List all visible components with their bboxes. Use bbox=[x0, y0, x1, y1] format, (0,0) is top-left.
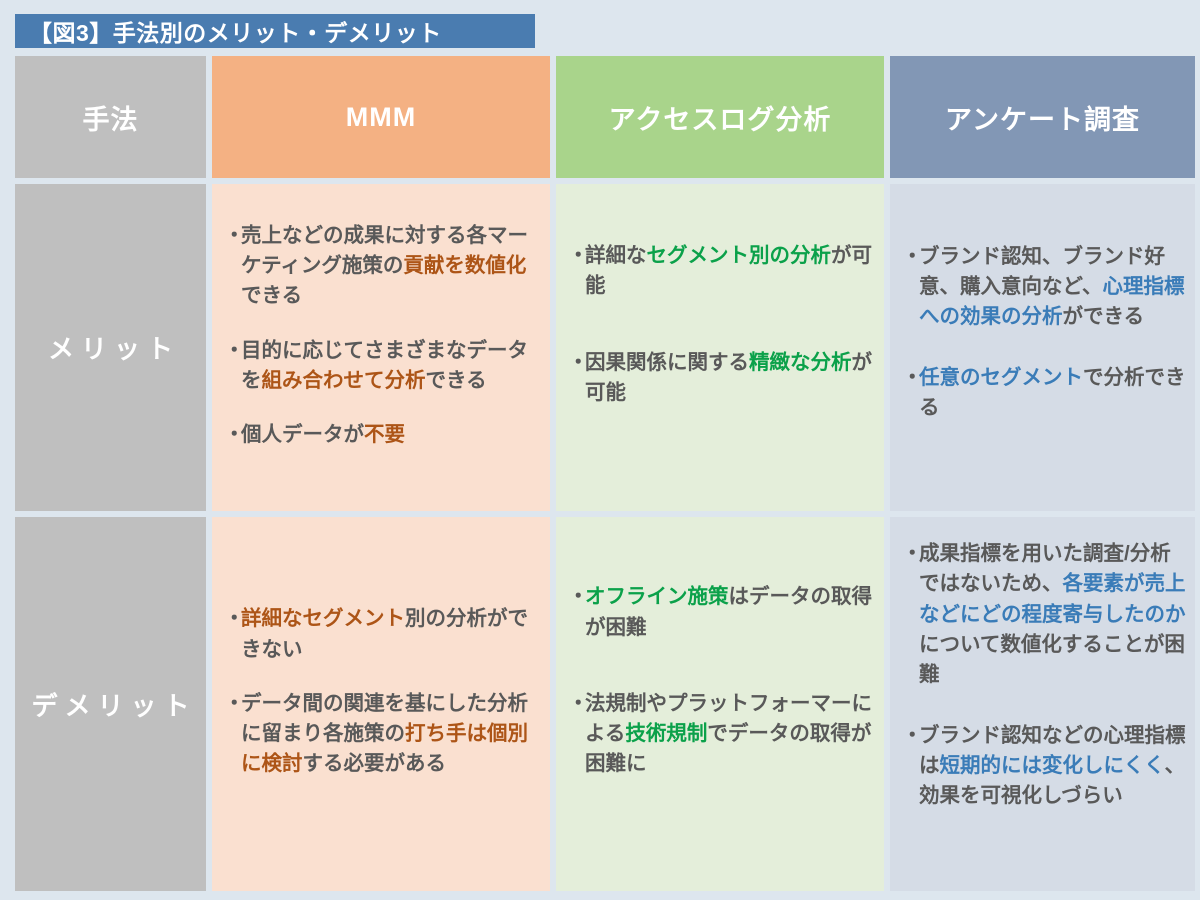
row-header-merit: メリット bbox=[15, 184, 206, 511]
bullet-item: ・ブランド認知などの心理指標は短期的には変化しにくく、効果を可視化しづらい bbox=[902, 721, 1187, 812]
page-title: 【図3】手法別のメリット・デメリット bbox=[15, 14, 442, 48]
highlighted-text: 不要 bbox=[364, 423, 405, 446]
bullet-mark: ・ bbox=[224, 336, 241, 397]
column-header-mmm: MMM bbox=[212, 56, 550, 178]
bullet-text: 目的に応じてさまざまなデータを組み合わせて分析できる bbox=[241, 336, 542, 397]
row-header-demerit: デメリット bbox=[15, 517, 206, 891]
bullet-text: オフライン施策はデータの取得が困難 bbox=[585, 582, 876, 643]
highlighted-text: 組み合わせて分析 bbox=[262, 369, 426, 392]
bullet-item: ・オフライン施策はデータの取得が困難 bbox=[568, 582, 876, 643]
bullet-mark: ・ bbox=[902, 721, 919, 812]
plain-text: できる bbox=[241, 284, 302, 307]
bullet-item: ・売上などの成果に対する各マーケティング施策の貢献を数値化できる bbox=[224, 221, 542, 312]
bullet-text: 因果関係に関する精緻な分析が可能 bbox=[585, 348, 876, 409]
column-header-survey: アンケート調査 bbox=[890, 56, 1195, 178]
column-header-method: 手法 bbox=[15, 56, 206, 178]
bullet-mark: ・ bbox=[902, 242, 919, 333]
bullet-mark: ・ bbox=[224, 420, 241, 450]
plain-text: できる bbox=[426, 369, 487, 392]
bullet-mark: ・ bbox=[224, 689, 241, 780]
bullet-mark: ・ bbox=[224, 604, 241, 665]
highlighted-text: 貢献を数値化 bbox=[403, 254, 526, 277]
column-header-mmm-label: MMM bbox=[346, 102, 416, 133]
bullet-text: ブランド認知などの心理指標は短期的には変化しにくく、効果を可視化しづらい bbox=[919, 721, 1187, 812]
column-header-access-log-label: アクセスログ分析 bbox=[609, 98, 832, 137]
bullet-text: 詳細なセグメント別の分析が可能 bbox=[585, 241, 876, 302]
row-header-merit-label: メリット bbox=[41, 329, 180, 366]
bullet-list: ・オフライン施策はデータの取得が困難・法規制やプラットフォーマーによる技術規制で… bbox=[556, 517, 884, 891]
plain-text: 因果関係に関する bbox=[585, 351, 749, 374]
highlighted-text: 短期的には変化しにくく bbox=[940, 754, 1165, 777]
highlighted-text: セグメント別の分析 bbox=[647, 244, 832, 267]
bullet-text: 売上などの成果に対する各マーケティング施策の貢献を数値化できる bbox=[241, 221, 542, 312]
bullet-text: ブランド認知、ブランド好意、購入意向など、心理指標への効果の分析ができる bbox=[919, 242, 1187, 333]
bullet-item: ・個人データが不要 bbox=[224, 420, 542, 450]
bullet-item: ・目的に応じてさまざまなデータを組み合わせて分析できる bbox=[224, 336, 542, 397]
bullet-item: ・詳細なセグメント別の分析ができない bbox=[224, 604, 542, 665]
cell-merit-access-log: ・詳細なセグメント別の分析が可能・因果関係に関する精緻な分析が可能 bbox=[556, 184, 884, 511]
column-header-method-label: 手法 bbox=[83, 98, 139, 137]
bullet-list: ・売上などの成果に対する各マーケティング施策の貢献を数値化できる・目的に応じてさ… bbox=[212, 184, 550, 511]
column-header-survey-label: アンケート調査 bbox=[945, 98, 1140, 137]
bullet-list: ・ブランド認知、ブランド好意、購入意向など、心理指標への効果の分析ができる・任意… bbox=[890, 184, 1195, 511]
highlighted-text: 詳細なセグメント bbox=[241, 607, 405, 630]
bullet-list: ・成果指標を用いた調査/分析ではないため、各要素が売上などにどの程度寄与したのか… bbox=[890, 517, 1195, 891]
bullet-item: ・任意のセグメントで分析できる bbox=[902, 363, 1187, 424]
figure-title-bar: 【図3】手法別のメリット・デメリット bbox=[15, 14, 535, 48]
bullet-text: 個人データが不要 bbox=[241, 420, 542, 450]
bullet-mark: ・ bbox=[568, 689, 585, 780]
bullet-mark: ・ bbox=[902, 363, 919, 424]
bullet-item: ・ブランド認知、ブランド好意、購入意向など、心理指標への効果の分析ができる bbox=[902, 242, 1187, 333]
plain-text: 詳細な bbox=[585, 244, 647, 267]
bullet-item: ・詳細なセグメント別の分析が可能 bbox=[568, 241, 876, 302]
comparison-table: 手法 MMM アクセスログ分析 アンケート調査 メリット ・売上などの成果に対す… bbox=[15, 56, 1183, 885]
highlighted-text: 任意のセグメント bbox=[919, 366, 1083, 389]
cell-merit-mmm: ・売上などの成果に対する各マーケティング施策の貢献を数値化できる・目的に応じてさ… bbox=[212, 184, 550, 511]
bullet-mark: ・ bbox=[568, 241, 585, 302]
cell-demerit-survey: ・成果指標を用いた調査/分析ではないため、各要素が売上などにどの程度寄与したのか… bbox=[890, 517, 1195, 891]
cell-demerit-access-log: ・オフライン施策はデータの取得が困難・法規制やプラットフォーマーによる技術規制で… bbox=[556, 517, 884, 891]
column-header-access-log: アクセスログ分析 bbox=[556, 56, 884, 178]
bullet-mark: ・ bbox=[568, 348, 585, 409]
plain-text: する必要がある bbox=[303, 752, 447, 775]
bullet-list: ・詳細なセグメント別の分析が可能・因果関係に関する精緻な分析が可能 bbox=[556, 184, 884, 511]
bullet-text: 成果指標を用いた調査/分析ではないため、各要素が売上などにどの程度寄与したのかに… bbox=[919, 539, 1187, 691]
bullet-item: ・成果指標を用いた調査/分析ではないため、各要素が売上などにどの程度寄与したのか… bbox=[902, 539, 1187, 691]
bullet-text: データ間の関連を基にした分析に留まり各施策の打ち手は個別に検討する必要がある bbox=[241, 689, 542, 780]
bullet-mark: ・ bbox=[568, 582, 585, 643]
plain-text: ができる bbox=[1063, 305, 1145, 328]
cell-merit-survey: ・ブランド認知、ブランド好意、購入意向など、心理指標への効果の分析ができる・任意… bbox=[890, 184, 1195, 511]
bullet-list: ・詳細なセグメント別の分析ができない・データ間の関連を基にした分析に留まり各施策… bbox=[212, 517, 550, 891]
bullet-item: ・法規制やプラットフォーマーによる技術規制でデータの取得が困難に bbox=[568, 689, 876, 780]
bullet-mark: ・ bbox=[902, 539, 919, 691]
bullet-text: 任意のセグメントで分析できる bbox=[919, 363, 1187, 424]
plain-text: について数値化することが困難 bbox=[919, 633, 1185, 686]
row-header-demerit-label: デメリット bbox=[24, 686, 196, 723]
highlighted-text: 技術規制 bbox=[625, 722, 707, 745]
bullet-mark: ・ bbox=[224, 221, 241, 312]
bullet-item: ・因果関係に関する精緻な分析が可能 bbox=[568, 348, 876, 409]
bullet-text: 法規制やプラットフォーマーによる技術規制でデータの取得が困難に bbox=[585, 689, 876, 780]
highlighted-text: オフライン施策 bbox=[585, 585, 729, 608]
bullet-item: ・データ間の関連を基にした分析に留まり各施策の打ち手は個別に検討する必要がある bbox=[224, 689, 542, 780]
bullet-text: 詳細なセグメント別の分析ができない bbox=[241, 604, 542, 665]
highlighted-text: 精緻な分析 bbox=[749, 351, 852, 374]
cell-demerit-mmm: ・詳細なセグメント別の分析ができない・データ間の関連を基にした分析に留まり各施策… bbox=[212, 517, 550, 891]
plain-text: 個人データが bbox=[241, 423, 364, 446]
